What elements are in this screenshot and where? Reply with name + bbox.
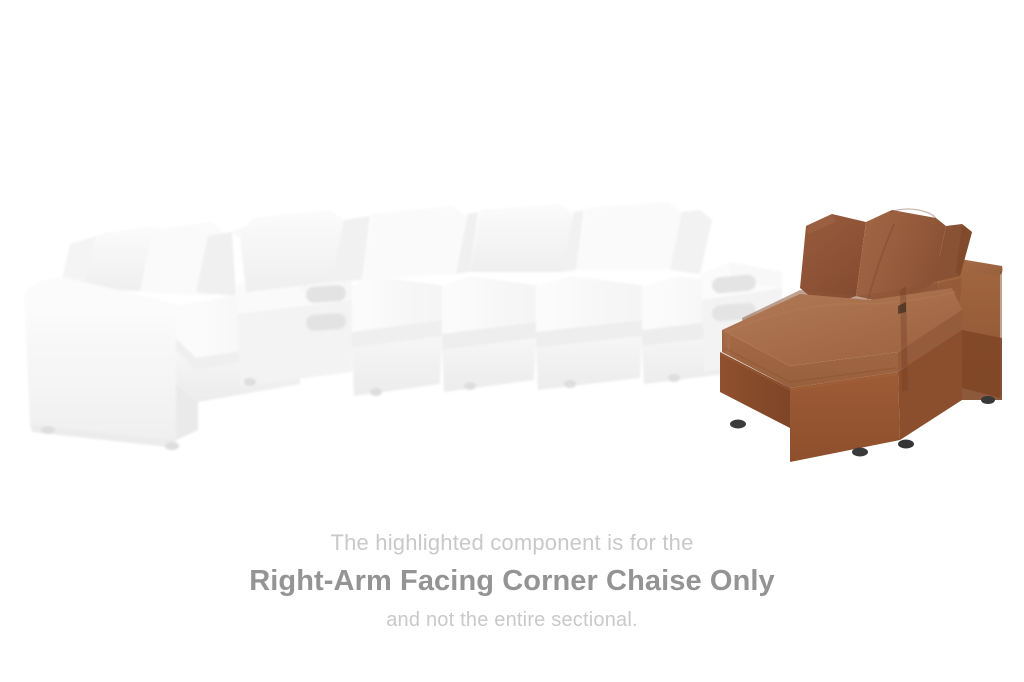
product-image-canvas: The highlighted component is for the Rig…	[0, 0, 1024, 682]
sectional-illustration	[0, 0, 1024, 520]
caption-line-2-component-name: Right-Arm Facing Corner Chaise Only	[0, 560, 1024, 602]
caption-line-1: The highlighted component is for the	[0, 528, 1024, 558]
chaise-foot-left	[730, 420, 746, 429]
caption-block: The highlighted component is for the Rig…	[0, 528, 1024, 635]
ghosted-sectional-group	[24, 202, 782, 450]
chaise-foot-mid	[852, 448, 868, 457]
chaise-foot-right	[898, 440, 914, 449]
chaise-foot-rear	[981, 396, 995, 404]
highlighted-raf-corner-chaise	[720, 209, 1003, 462]
caption-line-3: and not the entire sectional.	[0, 605, 1024, 635]
